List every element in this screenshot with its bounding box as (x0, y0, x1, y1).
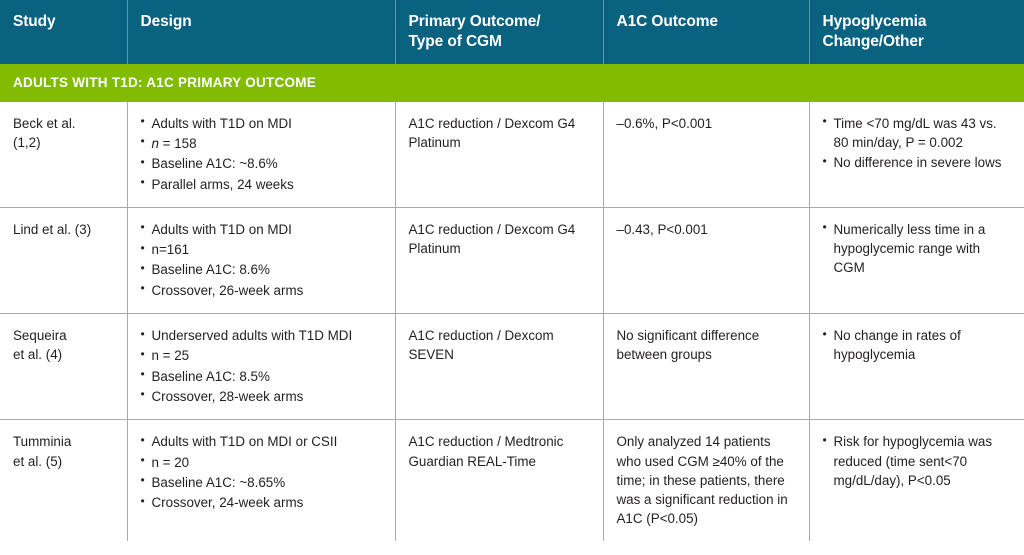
table-body: ADULTS WITH T1D: A1C PRIMARY OUTCOME Bec… (0, 64, 1024, 541)
study-name: Lind et al. (3) (13, 220, 114, 239)
study-name: Sequeiraet al. (4) (13, 326, 114, 365)
list-item: n=161 (141, 240, 382, 259)
cell-design: Underserved adults with T1D MDIn = 25Bas… (127, 314, 395, 420)
cell-hypoglycemia: No change in rates of hypoglycemia (809, 314, 1024, 420)
cell-study: Lind et al. (3) (0, 207, 127, 313)
list-item: Crossover, 24-week arms (141, 493, 382, 512)
cgm-studies-table: Study Design Primary Outcome/Type of CGM… (0, 0, 1024, 541)
list-item: Baseline A1C: 8.5% (141, 367, 382, 386)
cell-a1c-outcome: –0.6%, P<0.001 (603, 102, 809, 208)
header-row: Study Design Primary Outcome/Type of CGM… (0, 0, 1024, 64)
column-header-hypoglycemia: HypoglycemiaChange/Other (809, 0, 1024, 64)
primary-outcome-text: A1C reduction / Dexcom G4 Platinum (409, 220, 590, 259)
a1c-outcome-text: –0.43, P<0.001 (617, 220, 796, 239)
primary-outcome-text: A1C reduction / Medtronic Guardian REAL-… (409, 432, 590, 471)
list-item: Risk for hypoglycemia was reduced (time … (823, 432, 1012, 490)
a1c-outcome-text: No significant difference between groups (617, 326, 796, 365)
list-item: Baseline A1C: ~8.65% (141, 473, 382, 492)
a1c-outcome-text: –0.6%, P<0.001 (617, 114, 796, 133)
list-item: Adults with T1D on MDI or CSII (141, 432, 382, 451)
cell-primary-outcome: A1C reduction / Dexcom G4 Platinum (395, 102, 603, 208)
column-header-primary-outcome: Primary Outcome/Type of CGM (395, 0, 603, 64)
list-item: n = 25 (141, 346, 382, 365)
list-item: Baseline A1C: ~8.6% (141, 154, 382, 173)
section-heading-adults-t1d-a1c-primary-outcome: ADULTS WITH T1D: A1C PRIMARY OUTCOME (0, 64, 1024, 102)
list-item: Time <70 mg/dL was 43 vs. 80 min/day, P … (823, 114, 1012, 153)
cell-study: Tumminiaet al. (5) (0, 420, 127, 541)
cell-primary-outcome: A1C reduction / Medtronic Guardian REAL-… (395, 420, 603, 541)
column-header-a1c-outcome: A1C Outcome (603, 0, 809, 64)
a1c-outcome-text: Only analyzed 14 patients who used CGM ≥… (617, 432, 796, 528)
cell-primary-outcome: A1C reduction / Dexcom SEVEN (395, 314, 603, 420)
list-item: Parallel arms, 24 weeks (141, 175, 382, 194)
list-item: No difference in severe lows (823, 153, 1012, 172)
hypoglycemia-bullet-list: Numerically less time in a hypoglycemic … (823, 220, 1012, 278)
table-row: Lind et al. (3)Adults with T1D on MDIn=1… (0, 207, 1024, 313)
study-name: Tumminiaet al. (5) (13, 432, 114, 471)
primary-outcome-text: A1C reduction / Dexcom G4 Platinum (409, 114, 590, 153)
table-row: Sequeiraet al. (4)Underserved adults wit… (0, 314, 1024, 420)
cgm-evidence-table-page: Study Design Primary Outcome/Type of CGM… (0, 0, 1024, 555)
list-item: Adults with T1D on MDI (141, 114, 382, 133)
column-header-study: Study (0, 0, 127, 64)
primary-outcome-text: A1C reduction / Dexcom SEVEN (409, 326, 590, 365)
column-header-design: Design (127, 0, 395, 64)
list-item: Numerically less time in a hypoglycemic … (823, 220, 1012, 278)
cell-a1c-outcome: –0.43, P<0.001 (603, 207, 809, 313)
cell-hypoglycemia: Time <70 mg/dL was 43 vs. 80 min/day, P … (809, 102, 1024, 208)
list-item: Crossover, 28-week arms (141, 387, 382, 406)
list-item: Underserved adults with T1D MDI (141, 326, 382, 345)
table-header: Study Design Primary Outcome/Type of CGM… (0, 0, 1024, 64)
cell-hypoglycemia: Risk for hypoglycemia was reduced (time … (809, 420, 1024, 541)
hypoglycemia-bullet-list: No change in rates of hypoglycemia (823, 326, 1012, 365)
cell-study: Beck et al.(1,2) (0, 102, 127, 208)
table-row: Beck et al.(1,2)Adults with T1D on MDIn … (0, 102, 1024, 208)
table-row: Tumminiaet al. (5)Adults with T1D on MDI… (0, 420, 1024, 541)
list-item: No change in rates of hypoglycemia (823, 326, 1012, 365)
cell-design: Adults with T1D on MDIn = 158Baseline A1… (127, 102, 395, 208)
design-bullet-list: Adults with T1D on MDIn=161Baseline A1C:… (141, 220, 382, 300)
hypoglycemia-bullet-list: Time <70 mg/dL was 43 vs. 80 min/day, P … (823, 114, 1012, 173)
hypoglycemia-bullet-list: Risk for hypoglycemia was reduced (time … (823, 432, 1012, 490)
study-name: Beck et al.(1,2) (13, 114, 114, 153)
design-bullet-list: Underserved adults with T1D MDIn = 25Bas… (141, 326, 382, 406)
cell-a1c-outcome: No significant difference between groups (603, 314, 809, 420)
design-bullet-list: Adults with T1D on MDI or CSIIn = 20Base… (141, 432, 382, 512)
list-item: Baseline A1C: 8.6% (141, 260, 382, 279)
cell-a1c-outcome: Only analyzed 14 patients who used CGM ≥… (603, 420, 809, 541)
design-bullet-list: Adults with T1D on MDIn = 158Baseline A1… (141, 114, 382, 194)
cell-hypoglycemia: Numerically less time in a hypoglycemic … (809, 207, 1024, 313)
list-item: n = 158 (141, 134, 382, 153)
cell-study: Sequeiraet al. (4) (0, 314, 127, 420)
section-heading-row: ADULTS WITH T1D: A1C PRIMARY OUTCOME (0, 64, 1024, 102)
list-item: n = 20 (141, 453, 382, 472)
list-item: Adults with T1D on MDI (141, 220, 382, 239)
cell-primary-outcome: A1C reduction / Dexcom G4 Platinum (395, 207, 603, 313)
list-item: Crossover, 26-week arms (141, 281, 382, 300)
cell-design: Adults with T1D on MDIn=161Baseline A1C:… (127, 207, 395, 313)
cell-design: Adults with T1D on MDI or CSIIn = 20Base… (127, 420, 395, 541)
